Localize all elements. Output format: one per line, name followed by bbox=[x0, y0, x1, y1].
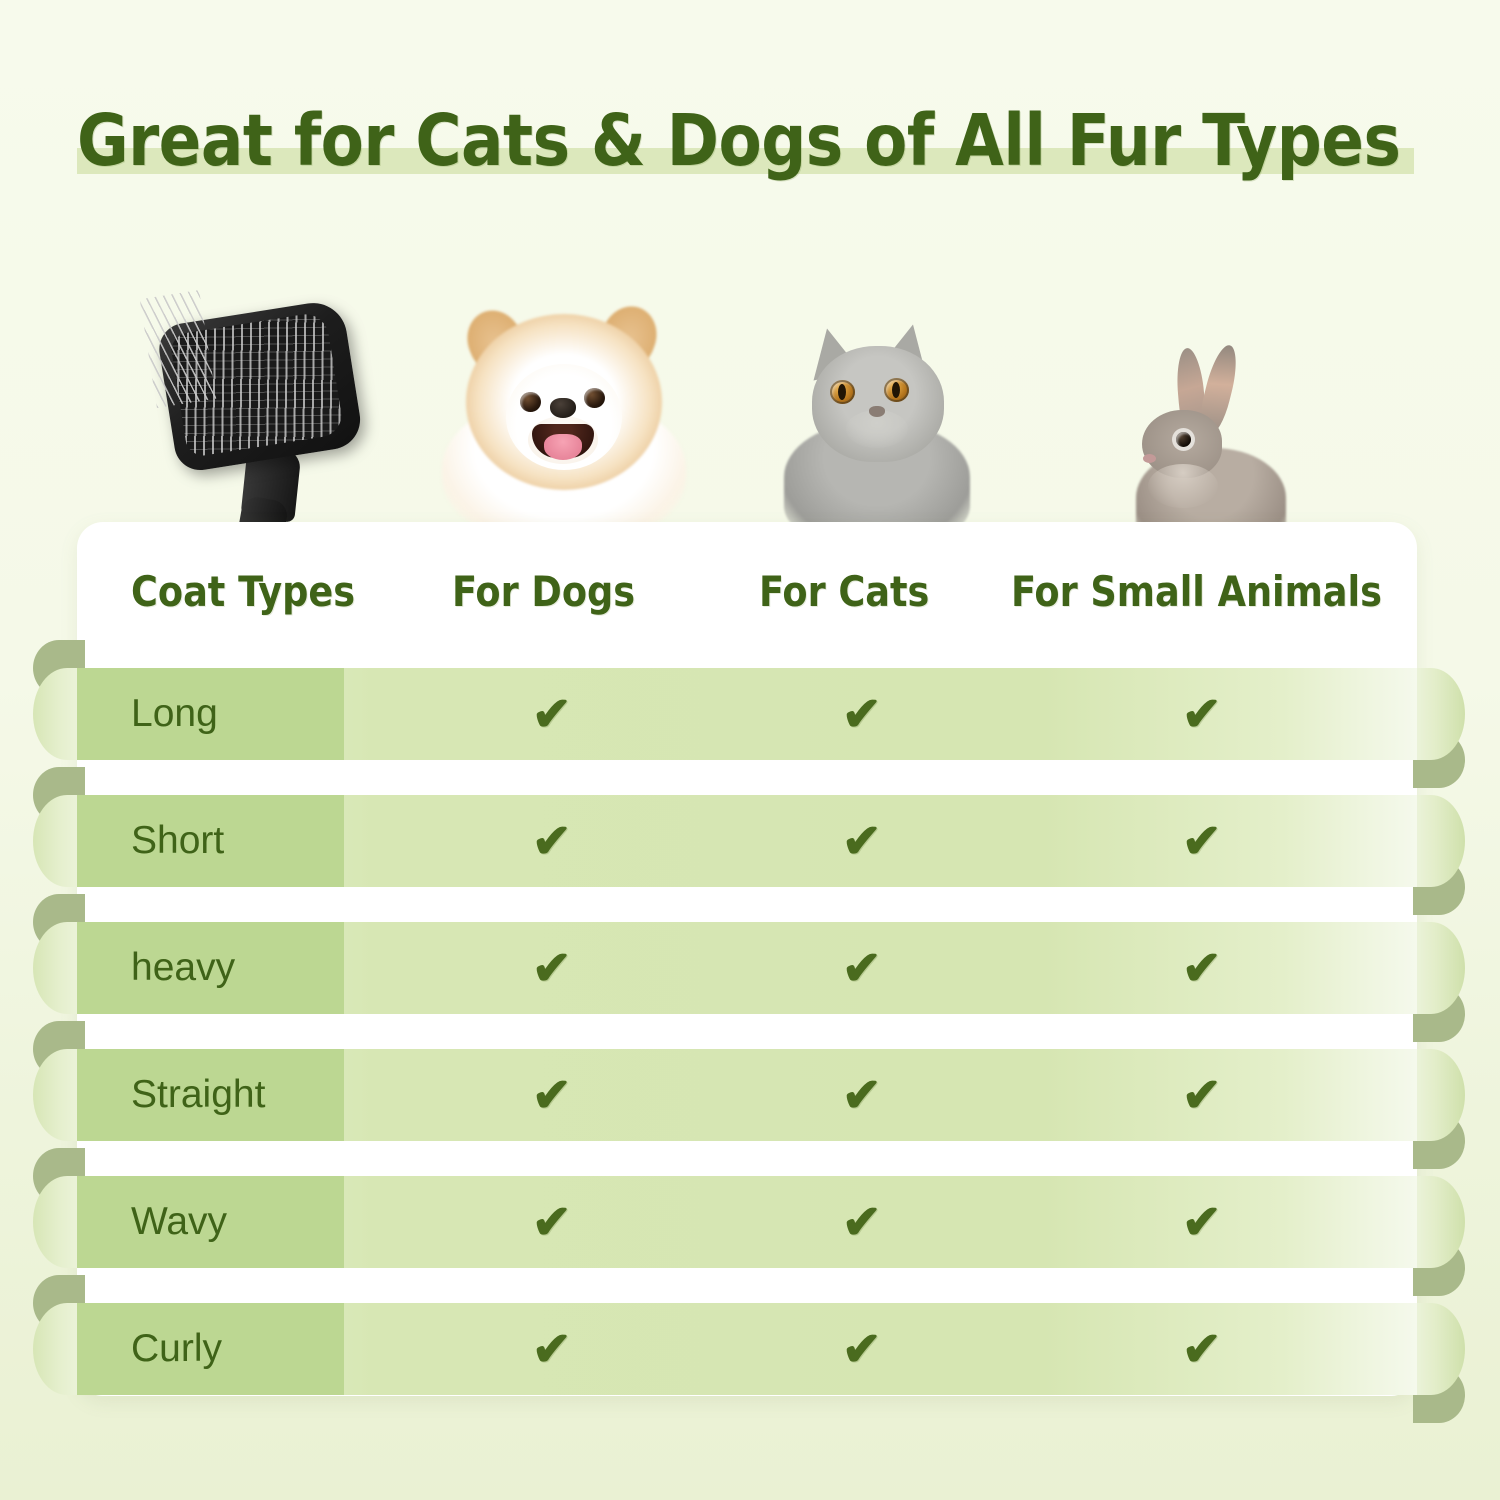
ribbon-band: Wavy✔✔✔ bbox=[77, 1176, 1417, 1268]
check-for-small-animals: ✔ bbox=[1182, 1303, 1221, 1395]
check-for-dogs: ✔ bbox=[532, 668, 571, 760]
check-for-cats: ✔ bbox=[842, 668, 881, 760]
infographic-canvas: Great for Cats & Dogs of All Fur Types bbox=[0, 0, 1500, 1500]
table-body: Long✔✔✔Short✔✔✔heavy✔✔✔Straight✔✔✔Wavy✔✔… bbox=[0, 0, 1500, 1500]
coat-type-cell: Long bbox=[77, 668, 344, 760]
check-for-small-animals: ✔ bbox=[1182, 795, 1221, 887]
coat-type-cell: Straight bbox=[77, 1049, 344, 1141]
ribbon-band: Curly✔✔✔ bbox=[77, 1303, 1417, 1395]
check-for-dogs: ✔ bbox=[532, 1176, 571, 1268]
coat-type-label: Straight bbox=[131, 1049, 265, 1141]
ribbon-band: Straight✔✔✔ bbox=[77, 1049, 1417, 1141]
check-for-cats: ✔ bbox=[842, 795, 881, 887]
table-row: Curly✔✔✔ bbox=[0, 1303, 1500, 1395]
check-for-dogs: ✔ bbox=[532, 1303, 571, 1395]
table-row: Wavy✔✔✔ bbox=[0, 1176, 1500, 1268]
table-row: heavy✔✔✔ bbox=[0, 922, 1500, 1014]
table-row: Short✔✔✔ bbox=[0, 795, 1500, 887]
coat-type-label: Short bbox=[131, 795, 224, 887]
ribbon-band: Short✔✔✔ bbox=[77, 795, 1417, 887]
ribbon-band: Long✔✔✔ bbox=[77, 668, 1417, 760]
table-row: Straight✔✔✔ bbox=[0, 1049, 1500, 1141]
check-for-dogs: ✔ bbox=[532, 922, 571, 1014]
check-for-cats: ✔ bbox=[842, 1176, 881, 1268]
ribbon-band: heavy✔✔✔ bbox=[77, 922, 1417, 1014]
coat-type-label: heavy bbox=[131, 922, 235, 1014]
check-for-small-animals: ✔ bbox=[1182, 1049, 1221, 1141]
coat-type-label: Curly bbox=[131, 1303, 222, 1395]
coat-type-cell: heavy bbox=[77, 922, 344, 1014]
coat-type-cell: Curly bbox=[77, 1303, 344, 1395]
coat-type-label: Long bbox=[131, 668, 218, 760]
check-for-cats: ✔ bbox=[842, 1303, 881, 1395]
check-for-small-animals: ✔ bbox=[1182, 1176, 1221, 1268]
check-for-cats: ✔ bbox=[842, 922, 881, 1014]
check-for-dogs: ✔ bbox=[532, 1049, 571, 1141]
table-row: Long✔✔✔ bbox=[0, 668, 1500, 760]
check-for-small-animals: ✔ bbox=[1182, 668, 1221, 760]
coat-type-cell: Wavy bbox=[77, 1176, 344, 1268]
coat-type-label: Wavy bbox=[131, 1176, 227, 1268]
check-for-small-animals: ✔ bbox=[1182, 922, 1221, 1014]
check-for-cats: ✔ bbox=[842, 1049, 881, 1141]
coat-type-cell: Short bbox=[77, 795, 344, 887]
check-for-dogs: ✔ bbox=[532, 795, 571, 887]
